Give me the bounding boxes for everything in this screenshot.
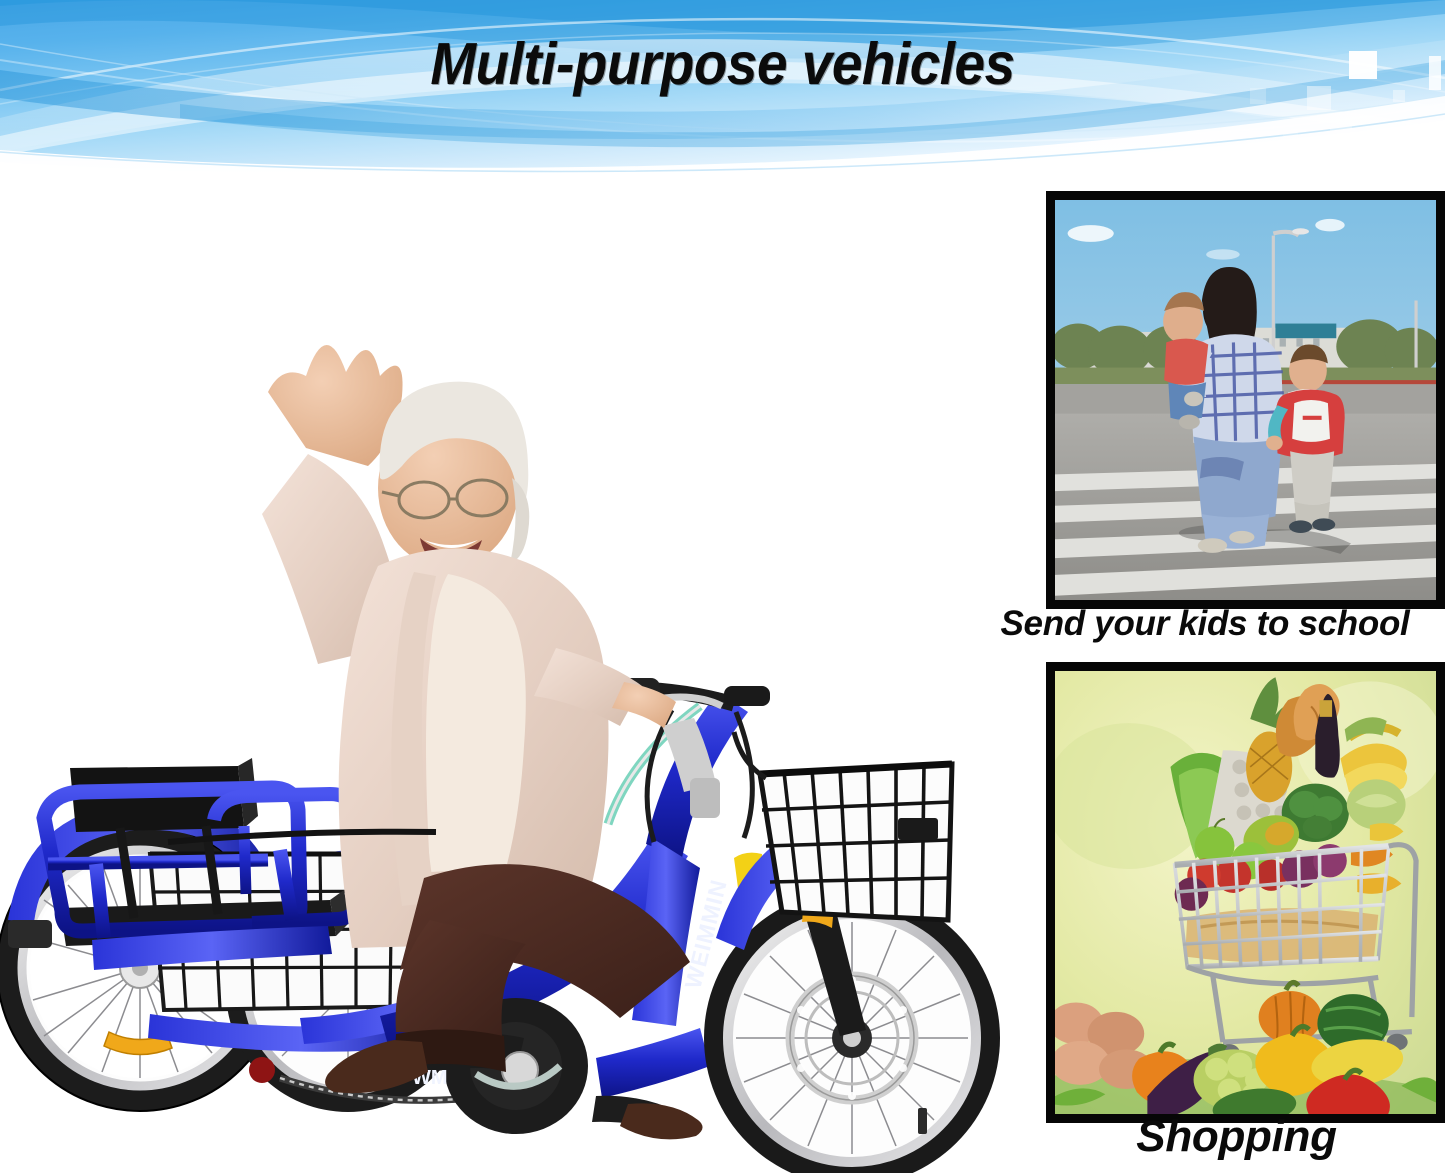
frame-chain-stay: [596, 1028, 710, 1098]
page-title: Multi-purpose vehicles: [51, 30, 1395, 98]
handlebar-grip-right: [724, 686, 770, 706]
decor-square-7: [1283, 124, 1298, 139]
caption-school: Send your kids to school: [965, 604, 1445, 644]
decor-square-4: [1429, 56, 1441, 90]
rider-inner-top: [426, 574, 526, 872]
decor-square-5: [1393, 90, 1405, 102]
inset-photo-school: [1046, 191, 1445, 609]
basket-mount-plate: [898, 818, 938, 840]
decor-square-6: [1330, 120, 1352, 142]
inset-photo-shopping: [1046, 662, 1445, 1123]
product-hero-image: WEIMMIN WM: [0, 178, 1020, 1173]
rear-reflector-bracket: [8, 920, 52, 948]
shopping-scene-illustration: [1055, 671, 1436, 1114]
rider-shoe-right: [620, 1103, 703, 1139]
caption-shopping: Shopping: [1046, 1112, 1427, 1162]
chain-tensioner: [249, 1057, 275, 1083]
tricycle-with-rider-illustration: WEIMMIN WM: [0, 178, 1020, 1173]
school-scene-illustration: [1055, 200, 1436, 600]
header-banner: Multi-purpose vehicles: [0, 0, 1445, 178]
